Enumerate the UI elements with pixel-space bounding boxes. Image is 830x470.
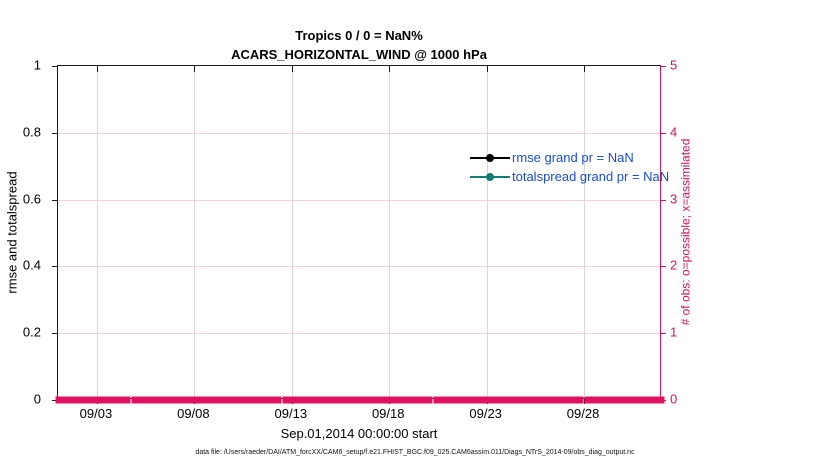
x-axis-tick-top xyxy=(194,66,195,72)
x-axis-tick xyxy=(487,398,488,404)
x-axis-tick-label: 09/03 xyxy=(80,406,113,421)
x-axis-tick-label: 09/23 xyxy=(469,406,502,421)
x-axis-tick xyxy=(194,398,195,404)
y-axis-left-tick xyxy=(52,133,58,134)
y-axis-left-tick xyxy=(52,266,58,267)
y-axis-left-tick xyxy=(52,200,58,201)
y-axis-right-title-text: # of obs: o=possible; x=assimilated xyxy=(678,139,692,326)
legend-label-rmse: rmse grand pr = NaN xyxy=(512,150,634,165)
y-axis-left-tick-label: 0.2 xyxy=(23,325,41,340)
x-axis-tick-top xyxy=(584,66,585,72)
x-axis-tick-top xyxy=(97,66,98,72)
horizontal-gridline xyxy=(58,333,660,334)
y-axis-left-tick xyxy=(52,66,58,67)
x-axis-tick-label: 09/08 xyxy=(177,406,210,421)
gridlines xyxy=(58,66,660,398)
horizontal-gridline xyxy=(58,133,660,134)
y-axis-left-title-text: rmse and totalspread xyxy=(5,171,20,293)
vertical-gridline xyxy=(487,66,488,398)
y-axis-left-tick xyxy=(52,333,58,334)
data-file-note: data file: /Users/raeder/DAI/ATM_forcXX/… xyxy=(0,449,830,456)
y-axis-left-tick-label: 0.6 xyxy=(23,192,41,207)
x-axis-tick xyxy=(292,398,293,404)
x-axis-tick xyxy=(584,398,585,404)
x-axis-tick-top xyxy=(292,66,293,72)
vertical-gridline xyxy=(194,66,195,398)
x-axis-tick xyxy=(97,398,98,404)
y-axis-left-tick-label: 1 xyxy=(34,58,41,73)
legend-marker-rmse-icon xyxy=(470,151,510,165)
x-axis-tick-top xyxy=(389,66,390,72)
vertical-gridline xyxy=(97,66,98,398)
y-axis-right-title: # of obs: o=possible; x=assimilated xyxy=(676,65,694,399)
y-axis-right-tick xyxy=(660,400,666,401)
plot-area: rmse grand pr = NaN totalspread grand pr… xyxy=(57,65,661,399)
x-axis-title: Sep.01,2014 00:00:00 start xyxy=(57,426,661,441)
y-axis-left-title: rmse and totalspread xyxy=(3,65,21,399)
chart-title-line1: Tropics 0 / 0 = NaN% xyxy=(57,26,661,45)
x-axis-tick-top xyxy=(487,66,488,72)
chart-title-line2: ACARS_HORIZONTAL_WIND @ 1000 hPa xyxy=(57,45,661,64)
legend-label-totalspread: totalspread grand pr = NaN xyxy=(512,169,669,184)
y-axis-left-tick-label: 0 xyxy=(34,392,41,407)
x-axis-tick-label: 09/18 xyxy=(372,406,405,421)
vertical-gridline xyxy=(389,66,390,398)
x-axis-tick-label: 09/28 xyxy=(567,406,600,421)
x-axis-tick xyxy=(389,398,390,404)
y-axis-left-tick-label: 0.4 xyxy=(23,258,41,273)
horizontal-gridline xyxy=(58,266,660,267)
y-axis-left-tick xyxy=(52,400,58,401)
x-axis-tick-label: 09/13 xyxy=(275,406,308,421)
vertical-gridline xyxy=(584,66,585,398)
chart-title-block: Tropics 0 / 0 = NaN% ACARS_HORIZONTAL_WI… xyxy=(57,26,661,64)
legend-marker-totalspread-icon xyxy=(470,170,510,184)
y-axis-left-tick-label: 0.8 xyxy=(23,125,41,140)
horizontal-gridline xyxy=(58,200,660,201)
vertical-gridline xyxy=(292,66,293,398)
